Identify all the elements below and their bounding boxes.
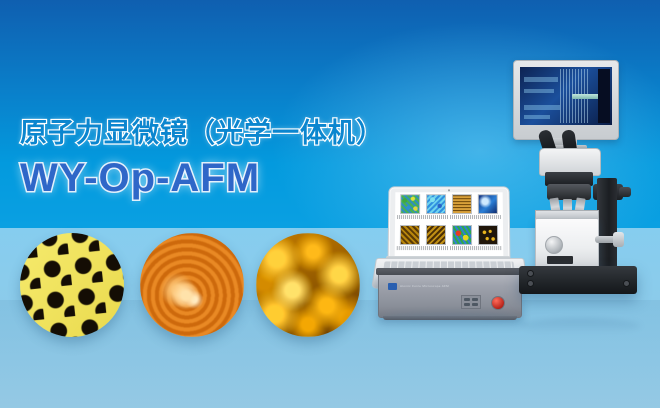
scan-thumbnail-caption <box>423 215 448 219</box>
port-icon <box>472 303 478 306</box>
scan-thumbnail-caption <box>449 215 474 219</box>
microscope-monitor <box>513 60 619 140</box>
scan-thumbnail-caption <box>476 246 501 250</box>
granular-texture <box>256 233 360 337</box>
afm-workstation: Atomic Force Microscope AFM <box>376 186 526 316</box>
controller-base-foot <box>383 316 517 320</box>
microscope-support-pillar <box>597 178 617 270</box>
scan-thumbnail-caption <box>397 215 422 219</box>
scan-thumbnail <box>397 194 422 223</box>
scan-thumbnail <box>397 225 423 255</box>
scan-thumbnail <box>423 225 448 255</box>
scan-thumbnail-caption <box>423 246 448 250</box>
scan-thumbnail-image <box>478 194 498 214</box>
focus-knob[interactable] <box>619 187 631 197</box>
afm-sample-image-dot-array <box>20 233 124 337</box>
base-screw-icon <box>527 280 534 287</box>
afm-controller-box: Atomic Force Microscope AFM <box>378 272 522 318</box>
laptop-lid <box>388 186 511 266</box>
product-model-name: WY-Op-AFM <box>20 156 384 200</box>
scan-thumbnail <box>423 194 448 223</box>
scan-thumbnail-image <box>452 225 472 245</box>
scan-thumbnail-image <box>452 194 472 214</box>
screen-band <box>524 115 550 119</box>
laptop-screen <box>395 192 504 256</box>
scan-thumbnail <box>449 194 474 223</box>
scanner-nameplate <box>547 256 573 264</box>
base-screw-icon <box>623 280 630 287</box>
screen-band <box>524 105 560 110</box>
webcam-icon <box>448 189 450 191</box>
afm-product-banner: 原子力显微镜（光学一体机） WY-Op-AFM <box>0 0 660 408</box>
afm-sample-image-terrace <box>140 233 244 337</box>
scan-thumbnail <box>449 225 474 255</box>
base-screw-icon <box>527 270 534 277</box>
port-icon <box>464 298 470 301</box>
scan-thumbnail <box>476 225 502 255</box>
scan-thumbnail-image <box>399 225 419 245</box>
scan-thumbnail-image <box>426 194 446 214</box>
dot-array-texture <box>20 233 124 337</box>
headline-block: 原子力显微镜（光学一体机） WY-Op-AFM <box>20 118 384 200</box>
power-button[interactable] <box>491 296 505 310</box>
screen-dark-edge <box>598 69 610 123</box>
controller-label: Atomic Force Microscope AFM <box>400 283 449 290</box>
monitor-screen <box>520 67 612 125</box>
controller-port-panel <box>461 295 481 309</box>
port-icon <box>464 303 470 306</box>
microscope-granite-base <box>519 266 637 294</box>
brand-logo-icon <box>388 283 397 290</box>
afm-microscope <box>505 60 655 330</box>
scanner-adjust-knob[interactable] <box>545 236 563 254</box>
afm-sample-image-granular <box>256 233 360 337</box>
scan-thumbnail-caption <box>476 215 501 219</box>
scan-thumbnail-image <box>400 194 420 214</box>
scanner-side-knob[interactable] <box>613 232 624 247</box>
screen-band <box>524 89 554 93</box>
scan-thumbnail <box>476 194 501 223</box>
scan-thumbnail-caption <box>450 246 475 250</box>
controller-top-panel <box>376 268 524 275</box>
scan-thumbnail-image <box>426 225 446 245</box>
port-icon <box>472 298 478 301</box>
scan-thumbnail-image <box>478 225 498 245</box>
page-title: 原子力显微镜（光学一体机） <box>20 118 384 148</box>
screen-band <box>524 77 558 82</box>
scan-thumbnail-caption <box>397 246 422 250</box>
terrace-texture <box>140 233 244 337</box>
